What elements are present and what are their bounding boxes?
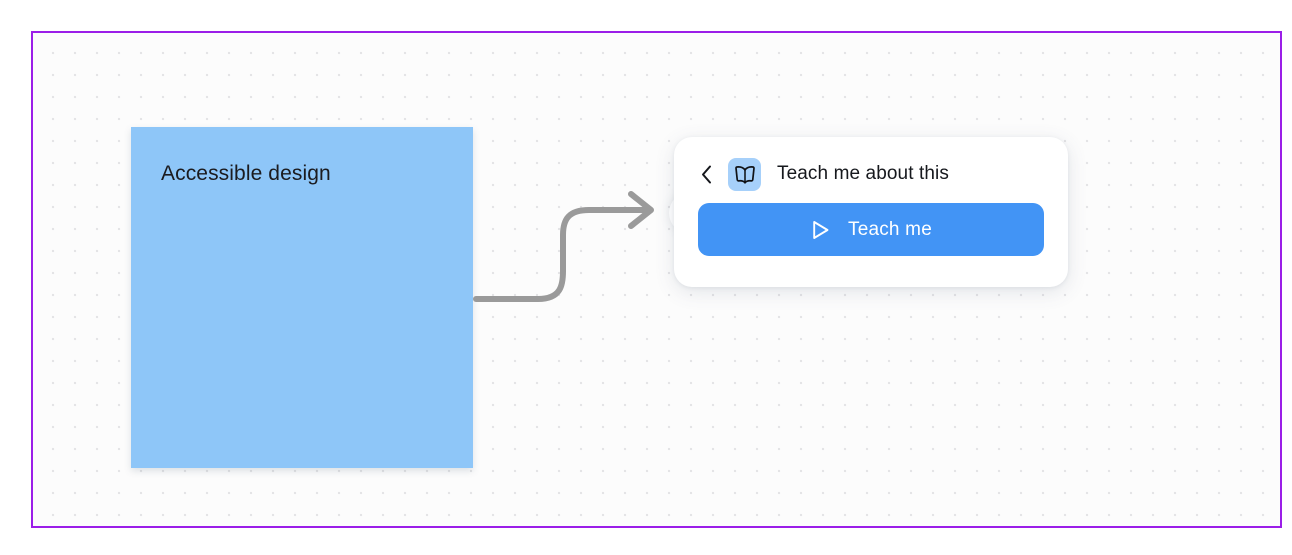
teach-me-button[interactable]: Teach me: [698, 203, 1044, 256]
screenshot-root: Accessible design: [0, 0, 1292, 555]
teach-me-popup-card: Teach me about this Teach me: [674, 137, 1068, 287]
sticky-note-text: Accessible design: [161, 160, 453, 188]
sticky-note-accessible-design[interactable]: Accessible design: [131, 127, 473, 468]
teach-me-button-label: Teach me: [848, 219, 932, 241]
play-icon: [810, 219, 832, 241]
open-book-icon: [728, 158, 761, 191]
popup-title: Teach me about this: [777, 163, 949, 185]
popup-header: Teach me about this: [695, 155, 1052, 193]
whiteboard-canvas[interactable]: Accessible design: [31, 31, 1282, 528]
back-chevron-icon[interactable]: [695, 159, 717, 189]
